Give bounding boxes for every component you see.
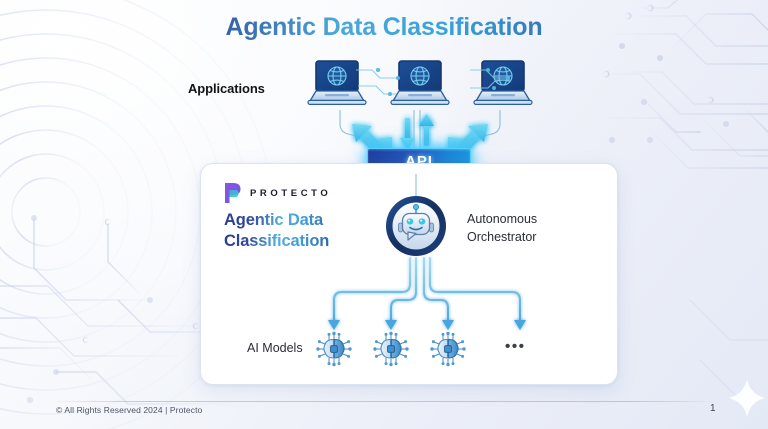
circuit-nodes-left bbox=[27, 215, 199, 403]
protecto-p-logo-icon bbox=[223, 182, 242, 204]
four-point-star-icon bbox=[726, 377, 768, 419]
globe-icon bbox=[328, 67, 346, 85]
footer-divider bbox=[56, 401, 712, 402]
circuit-traces-left bbox=[0, 220, 232, 404]
globe-icon bbox=[494, 67, 512, 85]
robot-icon bbox=[385, 195, 447, 257]
ai-models-label: AI Models bbox=[247, 341, 303, 355]
globe-icon bbox=[411, 67, 429, 85]
slide-canvas: Agentic Data Classification Applications bbox=[0, 0, 768, 429]
ai-model-2[interactable] bbox=[373, 331, 409, 367]
brain-chip-icon bbox=[430, 331, 466, 367]
autonomous-orchestrator-node[interactable] bbox=[385, 195, 447, 257]
orchestrator-label: Autonomous Orchestrator bbox=[467, 211, 537, 247]
laptop-2 bbox=[387, 58, 453, 108]
ai-models-overflow-indicator: ••• bbox=[505, 338, 526, 355]
page-number: 1 bbox=[710, 403, 716, 414]
laptop-1 bbox=[304, 58, 370, 108]
protecto-wordmark: PROTECTO bbox=[250, 188, 331, 199]
brain-chip-icon bbox=[373, 331, 409, 367]
laptop-3 bbox=[470, 58, 536, 108]
ai-model-3[interactable] bbox=[430, 331, 466, 367]
footer-copyright: © All Rights Reserved 2024 | Protecto bbox=[56, 405, 202, 415]
applications-label: Applications bbox=[188, 81, 265, 96]
protecto-brand-lockup: PROTECTO bbox=[223, 182, 331, 204]
applications-laptop-row bbox=[300, 58, 540, 110]
panel-heading: Agentic Data Classification bbox=[224, 210, 329, 252]
page-title: Agentic Data Classification bbox=[0, 13, 768, 42]
ai-model-1[interactable] bbox=[316, 331, 352, 367]
brain-chip-icon bbox=[316, 331, 352, 367]
